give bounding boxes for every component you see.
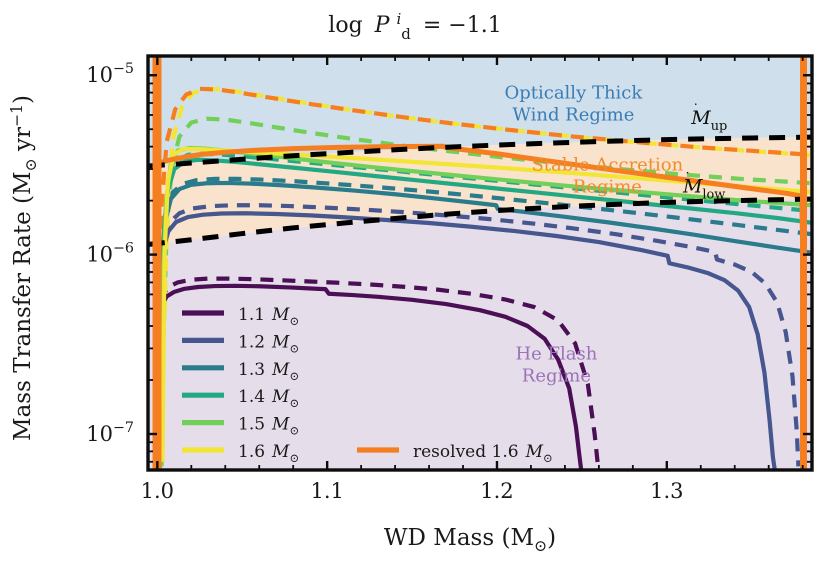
y-tick-mantissa: 10 [86,63,113,87]
legend-resolved-value: resolved 1.6 [413,442,519,462]
legend-mass-value: 1.5 [238,415,265,435]
title-equals: = −1.1 [423,13,502,38]
x-title-end: ) [547,525,556,551]
legend-mass-value: 1.1 [238,305,265,325]
y-title-sub: ⊙ [21,158,40,171]
legend-mass-value: 1.6 [238,442,265,462]
rate-label-subscript: up [711,119,728,134]
figure-root: 1.01.11.21.310−510−610−7 Optically Thick… [0,0,830,577]
svg-text:WD Mass (M⊙): WD Mass (M⊙) [384,525,556,555]
legend-unit-sub: ⊙ [289,314,299,328]
y-axis-title: Mass Transfer Rate (M⊙ yr−1) [7,95,40,441]
legend-unit: M [271,332,290,352]
regime-label-he-flash-regime: He FlashRegime [515,344,597,387]
y-tick-exponent: −5 [113,61,134,77]
legend-resolved-unit-sub: ⊙ [543,451,553,465]
svg-text:Mass Transfer Rate (M⊙ yr−1): Mass Transfer Rate (M⊙ yr−1) [7,95,40,441]
title-p: P [374,13,391,38]
y-tick-mantissa: 10 [86,422,113,446]
chart-canvas: 1.01.11.21.310−510−610−7 Optically Thick… [0,0,830,577]
legend-mass-value: 1.4 [238,387,265,407]
y-tick-mantissa: 10 [86,243,113,267]
y-tick-exponent: −6 [113,241,134,257]
legend-unit-sub: ⊙ [289,341,299,355]
title-subscript: d [401,25,411,43]
x-tick-label: 1.3 [650,479,683,503]
rate-label-symbol: M [682,175,703,197]
legend-unit: M [271,360,290,380]
rate-label-symbol: M [690,107,711,129]
legend-mass-value: 1.3 [238,360,265,380]
x-tick-label: 1.0 [141,479,174,503]
rate-label-subscript: low [702,187,725,202]
legend-mass-value: 1.2 [238,332,265,352]
regime-label-line: Wind Regime [512,105,634,126]
y-tick-exponent: −7 [113,420,134,436]
regime-label-line: Optically Thick [504,83,643,104]
x-tick-label: 1.2 [480,479,513,503]
legend-unit-sub: ⊙ [289,369,299,383]
y-title-mid: yr [10,127,36,158]
regime-label-line: He Flash [515,344,597,365]
x-title-main: WD Mass (M [384,525,534,551]
legend-unit: M [271,387,290,407]
legend-unit-sub: ⊙ [289,396,299,410]
x-axis-title: WD Mass (M⊙) [384,525,556,555]
y-title-main: Mass Transfer Rate (M [10,171,36,441]
regime-label-line: Regime [573,176,642,197]
x-title-sub: ⊙ [534,536,547,555]
y-title-sup: −1 [7,104,26,127]
regime-label-optically-thick-wind-regime: Optically ThickWind Regime [504,83,643,126]
regime-label-line: Regime [522,366,591,387]
legend-resolved-unit: M [525,442,544,462]
y-title-end: ) [10,95,36,104]
legend-unit-sub: ⊙ [289,424,299,438]
legend-unit: M [271,305,290,325]
title-log: log [328,13,362,38]
regime-label-line: Stable Accretion [531,154,683,175]
legend-label-resolved: resolved 1.6M⊙ [413,442,553,465]
legend-unit: M [271,442,290,462]
legend-unit: M [271,415,290,435]
legend-unit-sub: ⊙ [289,451,299,465]
x-tick-label: 1.1 [310,479,343,503]
